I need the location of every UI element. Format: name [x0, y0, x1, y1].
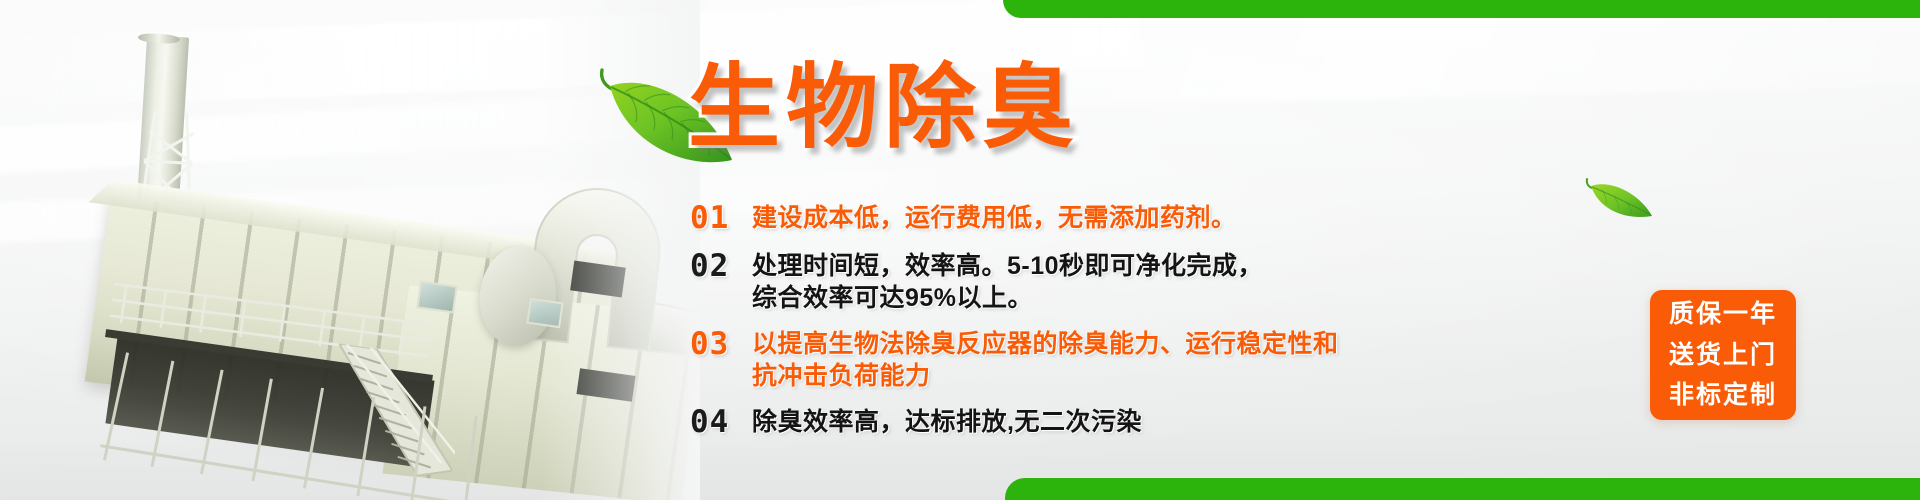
feature-item: 04 除臭效率高，达标排放,无二次污染: [690, 404, 1590, 441]
feature-text: 以提高生物法除臭反应器的除臭能力、运行稳定性和 抗冲击负荷能力: [752, 326, 1339, 393]
feature-line: 建设成本低，运行费用低，无需添加药剂。: [752, 202, 1237, 235]
feature-number: 01: [690, 200, 752, 237]
feature-item: 02 处理时间短，效率高。5-10秒即可净化完成， 综合效率可达95%以上。: [690, 248, 1590, 315]
banner-title: 生物除臭: [688, 62, 1080, 154]
feature-line: 处理时间短，效率高。5-10秒即可净化完成，: [752, 250, 1263, 283]
feature-number: 03: [690, 326, 752, 363]
leaf-icon: [1582, 176, 1656, 220]
exhaust-stack-cap: [138, 33, 180, 45]
feature-line: 综合效率可达95%以上。: [752, 282, 1263, 315]
feature-text: 建设成本低，运行费用低，无需添加药剂。: [752, 200, 1237, 235]
feature-text: 处理时间短，效率高。5-10秒即可净化完成， 综合效率可达95%以上。: [752, 248, 1263, 315]
promo-banner: 生物除臭 01 建设成本低，运行费用低，无需添加药剂。 02 处理时间短，效率高…: [0, 0, 1920, 500]
feature-text: 除臭效率高，达标排放,无二次污染: [752, 404, 1142, 439]
tank-window: [416, 280, 458, 313]
feature-line: 抗冲击负荷能力: [752, 360, 1339, 393]
feature-list: 01 建设成本低，运行费用低，无需添加药剂。 02 处理时间短，效率高。5-10…: [690, 200, 1590, 451]
feature-item: 01 建设成本低，运行费用低，无需添加药剂。: [690, 200, 1590, 237]
green-bar-top: [1003, 0, 1920, 18]
badge-line: 送货上门: [1669, 335, 1777, 376]
feature-number: 04: [690, 404, 752, 441]
feature-item: 03 以提高生物法除臭反应器的除臭能力、运行稳定性和 抗冲击负荷能力: [690, 326, 1590, 393]
green-bar-bottom: [1005, 478, 1920, 500]
feature-line: 以提高生物法除臭反应器的除臭能力、运行稳定性和: [752, 328, 1339, 361]
feature-number: 02: [690, 248, 752, 285]
badge-line: 非标定制: [1669, 375, 1777, 416]
guarantee-badge[interactable]: 质保一年 送货上门 非标定制: [1650, 290, 1796, 420]
feature-line: 除臭效率高，达标排放,无二次污染: [752, 406, 1142, 439]
badge-line: 质保一年: [1669, 294, 1777, 335]
